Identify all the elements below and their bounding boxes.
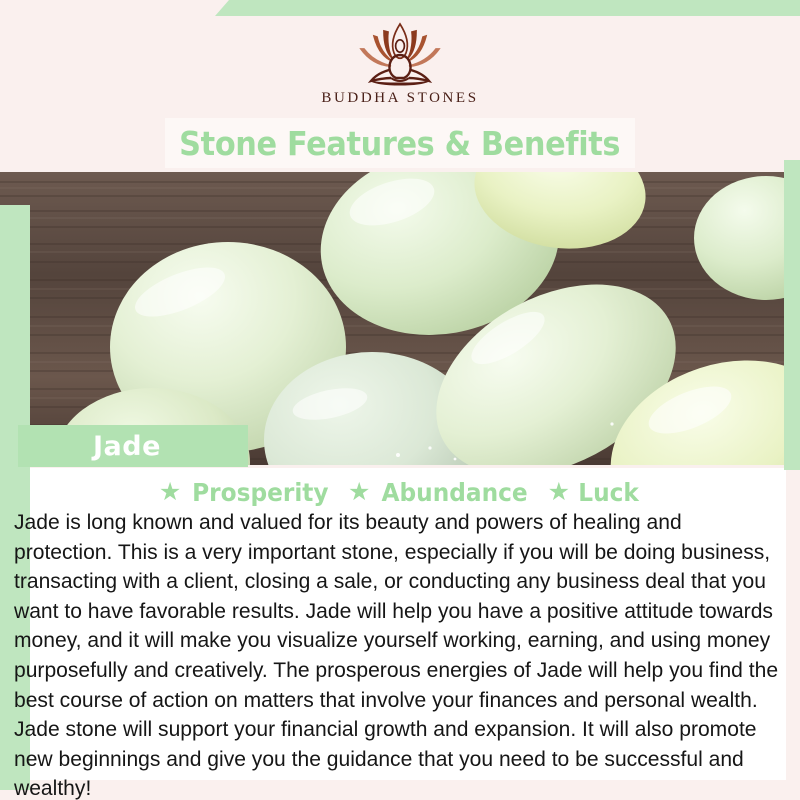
lotus-meditation-icon [341, 18, 459, 88]
benefit-label: Abundance [382, 478, 528, 507]
star-icon: ★ [548, 480, 570, 505]
brand-logo: BUDDHA STONES [0, 18, 800, 114]
stone-photo-illustration [0, 172, 784, 465]
benefit-item: ★ Luck [548, 478, 642, 507]
brand-name: BUDDHA STONES [321, 90, 478, 107]
benefit-label: Prosperity [192, 478, 328, 507]
right-accent-strip [784, 160, 800, 470]
benefit-item: ★ Prosperity [159, 478, 334, 507]
benefits-list: ★ Prosperity ★ Abundance ★ Luck [14, 476, 786, 508]
stone-description: Jade is long known and valued for its be… [14, 508, 780, 800]
benefit-item: ★ Abundance [348, 478, 534, 507]
star-icon: ★ [348, 480, 370, 505]
stone-photo [0, 172, 784, 465]
top-accent-band [215, 0, 800, 16]
stone-name-bar: Jade [18, 425, 248, 467]
header-banner: Stone Features & Benefits [165, 118, 635, 168]
stone-info-card: BUDDHA STONES Stone Features & Benefits [0, 0, 800, 800]
benefit-label: Luck [578, 478, 639, 507]
page-title: Stone Features & Benefits [180, 124, 621, 163]
star-icon: ★ [159, 480, 181, 505]
stone-name: Jade [93, 431, 161, 462]
